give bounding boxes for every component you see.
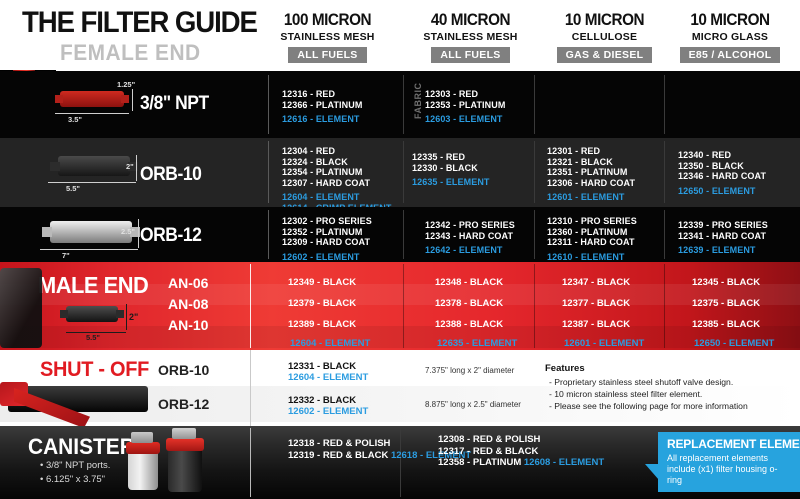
part-list-cell: 12331 - BLACK 12604 - ELEMENT bbox=[288, 361, 368, 383]
part-number: 12321 - BLACK bbox=[547, 157, 613, 167]
fabric-tag: FABRIC bbox=[413, 83, 423, 120]
table-row: ORB-12 7" 2.5" 12302 - PRO SERIES 12352 … bbox=[0, 207, 800, 262]
part-number: 12319 - RED & BLACK bbox=[288, 450, 388, 461]
canister-photo-polish bbox=[128, 450, 158, 490]
part-number: 12378 - BLACK bbox=[435, 298, 503, 309]
part-number: 12330 - BLACK bbox=[412, 163, 478, 173]
section-male-end: MALE END 5.5" 2" AN-06 AN-08 AN-10 12349… bbox=[0, 262, 800, 350]
column-divider bbox=[403, 141, 404, 203]
part-number: 12388 - BLACK bbox=[435, 319, 503, 330]
section-shut-off: SHUT - OFF ORB-10 ORB-12 12331 - BLACK 1… bbox=[0, 350, 800, 426]
column-divider bbox=[268, 75, 269, 134]
part-number: 12331 - BLACK bbox=[288, 361, 356, 372]
column-divider bbox=[250, 428, 251, 497]
element-part-number: 12603 - ELEMENT bbox=[425, 114, 503, 124]
part-list-cell: 12342 - PRO SERIES 12343 - HARD COAT 126… bbox=[425, 220, 515, 256]
replacement-elements-callout: REPLACEMENT ELEMENTS All replacement ele… bbox=[658, 432, 800, 492]
part-number: 12340 - RED bbox=[678, 150, 731, 160]
part-number: 12303 - RED bbox=[425, 89, 478, 99]
row-label: 3/8" NPT bbox=[140, 93, 255, 115]
part-list-cell: 12332 - BLACK 12602 - ELEMENT bbox=[288, 395, 368, 417]
element-part-number: 12616 - ELEMENT bbox=[282, 114, 360, 124]
part-number: 12377 - BLACK bbox=[562, 298, 630, 309]
title-block: THE FILTER GUIDE FEMALE END bbox=[0, 0, 265, 70]
filter-thumbnail bbox=[58, 156, 130, 176]
part-number: 12349 - BLACK bbox=[288, 277, 356, 288]
part-list-cell: 12308 - RED & POLISH 12317 - RED & BLACK… bbox=[438, 434, 604, 469]
dimension-line-diameter bbox=[136, 155, 137, 181]
part-number: 12389 - BLACK bbox=[288, 319, 356, 330]
column-header-1: 100 MICRON STAINLESS MESH ALL FUELS bbox=[255, 10, 400, 70]
part-list-cell: 12335 - RED 12330 - BLACK 12635 - ELEMEN… bbox=[412, 152, 490, 188]
callout-body: All replacement elements include (x1) fi… bbox=[667, 453, 792, 486]
section-title-shut-off: SHUT - OFF bbox=[40, 358, 149, 382]
dimension-diameter-label: 2" bbox=[126, 162, 134, 171]
part-number: 12358 - PLATINUM bbox=[438, 457, 521, 468]
part-number: 12302 - PRO SERIES bbox=[282, 216, 372, 226]
dimension-line-length bbox=[55, 113, 129, 114]
filter-thumbnail-port bbox=[55, 95, 63, 103]
element-part-number: 12650 - ELEMENT bbox=[678, 186, 756, 196]
part-list-cell: 12316 - RED 12366 - PLATINUM 12616 - ELE… bbox=[282, 89, 362, 125]
part-number: 12317 - RED & BLACK bbox=[438, 446, 538, 457]
callout-tail bbox=[645, 464, 659, 480]
feature-item: - 10 micron stainless steel filter eleme… bbox=[549, 389, 702, 399]
filter-thumbnail-port bbox=[42, 227, 52, 237]
column-fuel-badge: ALL FUELS bbox=[288, 47, 366, 63]
part-list-cell: 12310 - PRO SERIES 12360 - PLATINUM 1231… bbox=[547, 216, 637, 262]
column-divider bbox=[534, 264, 535, 348]
dimension-line-length bbox=[48, 182, 136, 183]
column-divider bbox=[250, 264, 251, 348]
element-part-number: 12610 - ELEMENT bbox=[547, 252, 625, 262]
column-divider bbox=[403, 264, 404, 348]
dimension-line-diameter bbox=[138, 219, 139, 248]
table-row: 3/8" NPT 3.5" 1.25" FABRIC 12316 - RED 1… bbox=[0, 71, 800, 138]
dimension-diameter-label: 2" bbox=[129, 312, 138, 322]
element-part-number: 12608 - ELEMENT bbox=[524, 457, 604, 468]
column-divider bbox=[664, 141, 665, 203]
part-number: 12318 - RED & POLISH bbox=[288, 438, 390, 449]
callout-title: REPLACEMENT ELEMENTS bbox=[667, 437, 792, 451]
part-number: 12387 - BLACK bbox=[562, 319, 630, 330]
column-material: STAINLESS MESH bbox=[398, 31, 543, 43]
part-number: 12351 - PLATINUM bbox=[547, 167, 627, 177]
dimension-length-label: 5.5" bbox=[66, 184, 80, 193]
element-part-number: 12642 - ELEMENT bbox=[425, 245, 503, 255]
part-number: 12309 - HARD COAT bbox=[282, 237, 370, 247]
dimension-length-label: 5.5" bbox=[86, 333, 100, 342]
male-fitting-photo bbox=[0, 268, 42, 348]
column-header-3: 10 MICRON CELLULOSE GAS & DIESEL bbox=[527, 10, 682, 70]
canister-spec: • 3/8" NPT ports. bbox=[40, 460, 110, 471]
dimension-length-label: 7" bbox=[62, 251, 70, 260]
row-label: ORB-10 bbox=[158, 362, 209, 378]
part-number: 12346 - HARD COAT bbox=[678, 171, 766, 181]
feature-item: - Proprietary stainless steel shutoff va… bbox=[549, 377, 733, 387]
part-list-cell: 12339 - PRO SERIES 12341 - HARD COAT 126… bbox=[678, 220, 768, 256]
element-part-number: 12635 - ELEMENT bbox=[437, 338, 517, 349]
column-header-2: 40 MICRON STAINLESS MESH ALL FUELS bbox=[398, 10, 543, 70]
filter-thumbnail bbox=[50, 221, 132, 243]
part-number: 12335 - RED bbox=[412, 152, 465, 162]
column-divider bbox=[268, 210, 269, 259]
table-row: ORB-10 5.5" 2" 12304 - RED 12324 - BLACK… bbox=[0, 138, 800, 207]
column-divider bbox=[664, 264, 665, 348]
element-part-number: 12604 - ELEMENT bbox=[290, 338, 370, 349]
filter-guide-page: THE FILTER GUIDE FEMALE END 100 MICRON S… bbox=[0, 0, 800, 499]
dimension-length-label: 3.5" bbox=[68, 115, 82, 124]
part-number: 12345 - BLACK bbox=[692, 277, 760, 288]
column-material: MICRO GLASS bbox=[660, 31, 800, 43]
part-number: 12306 - HARD COAT bbox=[547, 178, 635, 188]
column-micron: 10 MICRON bbox=[667, 10, 793, 30]
part-number: 12316 - RED bbox=[282, 89, 335, 99]
column-divider bbox=[664, 210, 665, 259]
column-micron: 100 MICRON bbox=[262, 10, 393, 30]
column-divider bbox=[534, 210, 535, 259]
part-number: 12375 - BLACK bbox=[692, 298, 760, 309]
canister-photo-black bbox=[168, 448, 202, 492]
dimension-line-diameter bbox=[132, 89, 133, 111]
element-part-number: 12650 - ELEMENT bbox=[694, 338, 774, 349]
element-part-number: 12635 - ELEMENT bbox=[412, 177, 490, 187]
part-number: 12341 - HARD COAT bbox=[678, 231, 766, 241]
section-title-female-end: FEMALE END bbox=[60, 40, 201, 66]
part-number: 12343 - HARD COAT bbox=[425, 231, 513, 241]
canister-cap-red bbox=[166, 438, 204, 451]
column-divider bbox=[403, 210, 404, 259]
part-number: 12352 - PLATINUM bbox=[282, 227, 362, 237]
part-number: 12385 - BLACK bbox=[692, 319, 760, 330]
filter-thumbnail-port bbox=[60, 310, 68, 318]
column-divider bbox=[534, 75, 535, 134]
element-part-number: 12601 - ELEMENT bbox=[564, 338, 644, 349]
column-divider bbox=[268, 141, 269, 203]
dimension-diameter-label: 2.5" bbox=[121, 227, 135, 236]
column-micron: 40 MICRON bbox=[405, 10, 536, 30]
page-title: THE FILTER GUIDE bbox=[22, 6, 257, 40]
column-fuel-badge: ALL FUELS bbox=[431, 47, 509, 63]
part-number: 12347 - BLACK bbox=[562, 277, 630, 288]
feature-item: - Please see the following page for more… bbox=[549, 401, 748, 411]
column-material: STAINLESS MESH bbox=[255, 31, 400, 43]
canister-cap-red bbox=[126, 442, 160, 454]
element-part-number: 12602 - ELEMENT bbox=[288, 406, 368, 417]
section-title-male-end: MALE END bbox=[38, 272, 148, 299]
part-list-cell: 12302 - PRO SERIES 12352 - PLATINUM 1230… bbox=[282, 216, 372, 262]
part-list-cell: 12340 - RED 12350 - BLACK 12346 - HARD C… bbox=[678, 150, 766, 196]
part-number: 12353 - PLATINUM bbox=[425, 100, 505, 110]
part-number: 12360 - PLATINUM bbox=[547, 227, 627, 237]
part-number: 12324 - BLACK bbox=[282, 157, 348, 167]
dimension-line-length bbox=[40, 249, 138, 250]
row-label: AN-10 bbox=[168, 317, 208, 333]
row-label: ORB-12 bbox=[158, 396, 209, 412]
part-number: 12301 - RED bbox=[547, 146, 600, 156]
filter-thumbnail-port bbox=[116, 310, 124, 318]
row-label: ORB-12 bbox=[140, 225, 255, 247]
canister-bracket bbox=[172, 428, 196, 439]
element-part-number: 12639 - ELEMENT bbox=[678, 245, 756, 255]
dimension-line-diameter bbox=[126, 304, 127, 330]
dimension-text: 8.875" long x 2.5" diameter bbox=[425, 400, 521, 409]
part-number: 12366 - PLATINUM bbox=[282, 100, 362, 110]
column-micron: 10 MICRON bbox=[535, 10, 675, 30]
section-title-canister: CANISTER bbox=[28, 434, 135, 460]
row-label: AN-06 bbox=[168, 275, 208, 291]
column-divider bbox=[534, 141, 535, 203]
part-number: 12308 - RED & POLISH bbox=[438, 434, 540, 445]
canister-spec: • 6.125" x 3.75" bbox=[40, 474, 105, 485]
column-header-4: 10 MICRON MICRO GLASS E85 / ALCOHOL bbox=[660, 10, 800, 70]
section-canister: CANISTER • 3/8" NPT ports. • 6.125" x 3.… bbox=[0, 426, 800, 499]
filter-thumbnail bbox=[60, 91, 124, 107]
column-divider bbox=[403, 75, 404, 134]
filter-thumbnail bbox=[66, 306, 118, 322]
part-number: 12348 - BLACK bbox=[435, 277, 503, 288]
dimension-diameter-label: 1.25" bbox=[117, 80, 135, 89]
row-shade bbox=[0, 326, 800, 348]
part-number: 12339 - PRO SERIES bbox=[678, 220, 768, 230]
features-title: Features bbox=[545, 363, 585, 374]
column-fuel-badge: GAS & DIESEL bbox=[557, 47, 653, 63]
part-number: 12332 - BLACK bbox=[288, 395, 356, 406]
column-divider bbox=[250, 350, 251, 426]
element-part-number: 12602 - ELEMENT bbox=[282, 252, 360, 262]
part-number: 12307 - HARD COAT bbox=[282, 178, 370, 188]
part-number: 12311 - HARD COAT bbox=[547, 237, 635, 247]
filter-thumbnail-port bbox=[121, 95, 129, 103]
element-part-number: 12601 - ELEMENT bbox=[547, 192, 625, 202]
column-material: CELLULOSE bbox=[527, 31, 682, 43]
element-part-number: 12604 - ELEMENT bbox=[282, 192, 360, 202]
column-divider bbox=[664, 75, 665, 134]
part-list-cell: 12304 - RED 12324 - BLACK 12354 - PLATIN… bbox=[282, 146, 391, 214]
element-part-number: 12604 - ELEMENT bbox=[288, 372, 368, 383]
part-number: 12354 - PLATINUM bbox=[282, 167, 362, 177]
column-fuel-badge: E85 / ALCOHOL bbox=[680, 47, 781, 63]
part-number: 12350 - BLACK bbox=[678, 161, 744, 171]
canister-bracket bbox=[131, 432, 153, 443]
filter-thumbnail-port bbox=[50, 162, 60, 171]
part-list-cell: 12303 - RED 12353 - PLATINUM 12603 - ELE… bbox=[425, 89, 505, 125]
part-number: 12379 - BLACK bbox=[288, 298, 356, 309]
part-number: 12310 - PRO SERIES bbox=[547, 216, 637, 226]
dimension-text: 7.375" long x 2" diameter bbox=[425, 366, 514, 375]
row-label: ORB-10 bbox=[140, 164, 255, 186]
part-number: 12304 - RED bbox=[282, 146, 335, 156]
row-label: AN-08 bbox=[168, 296, 208, 312]
part-list-cell: 12301 - RED 12321 - BLACK 12351 - PLATIN… bbox=[547, 146, 635, 203]
part-number: 12342 - PRO SERIES bbox=[425, 220, 515, 230]
